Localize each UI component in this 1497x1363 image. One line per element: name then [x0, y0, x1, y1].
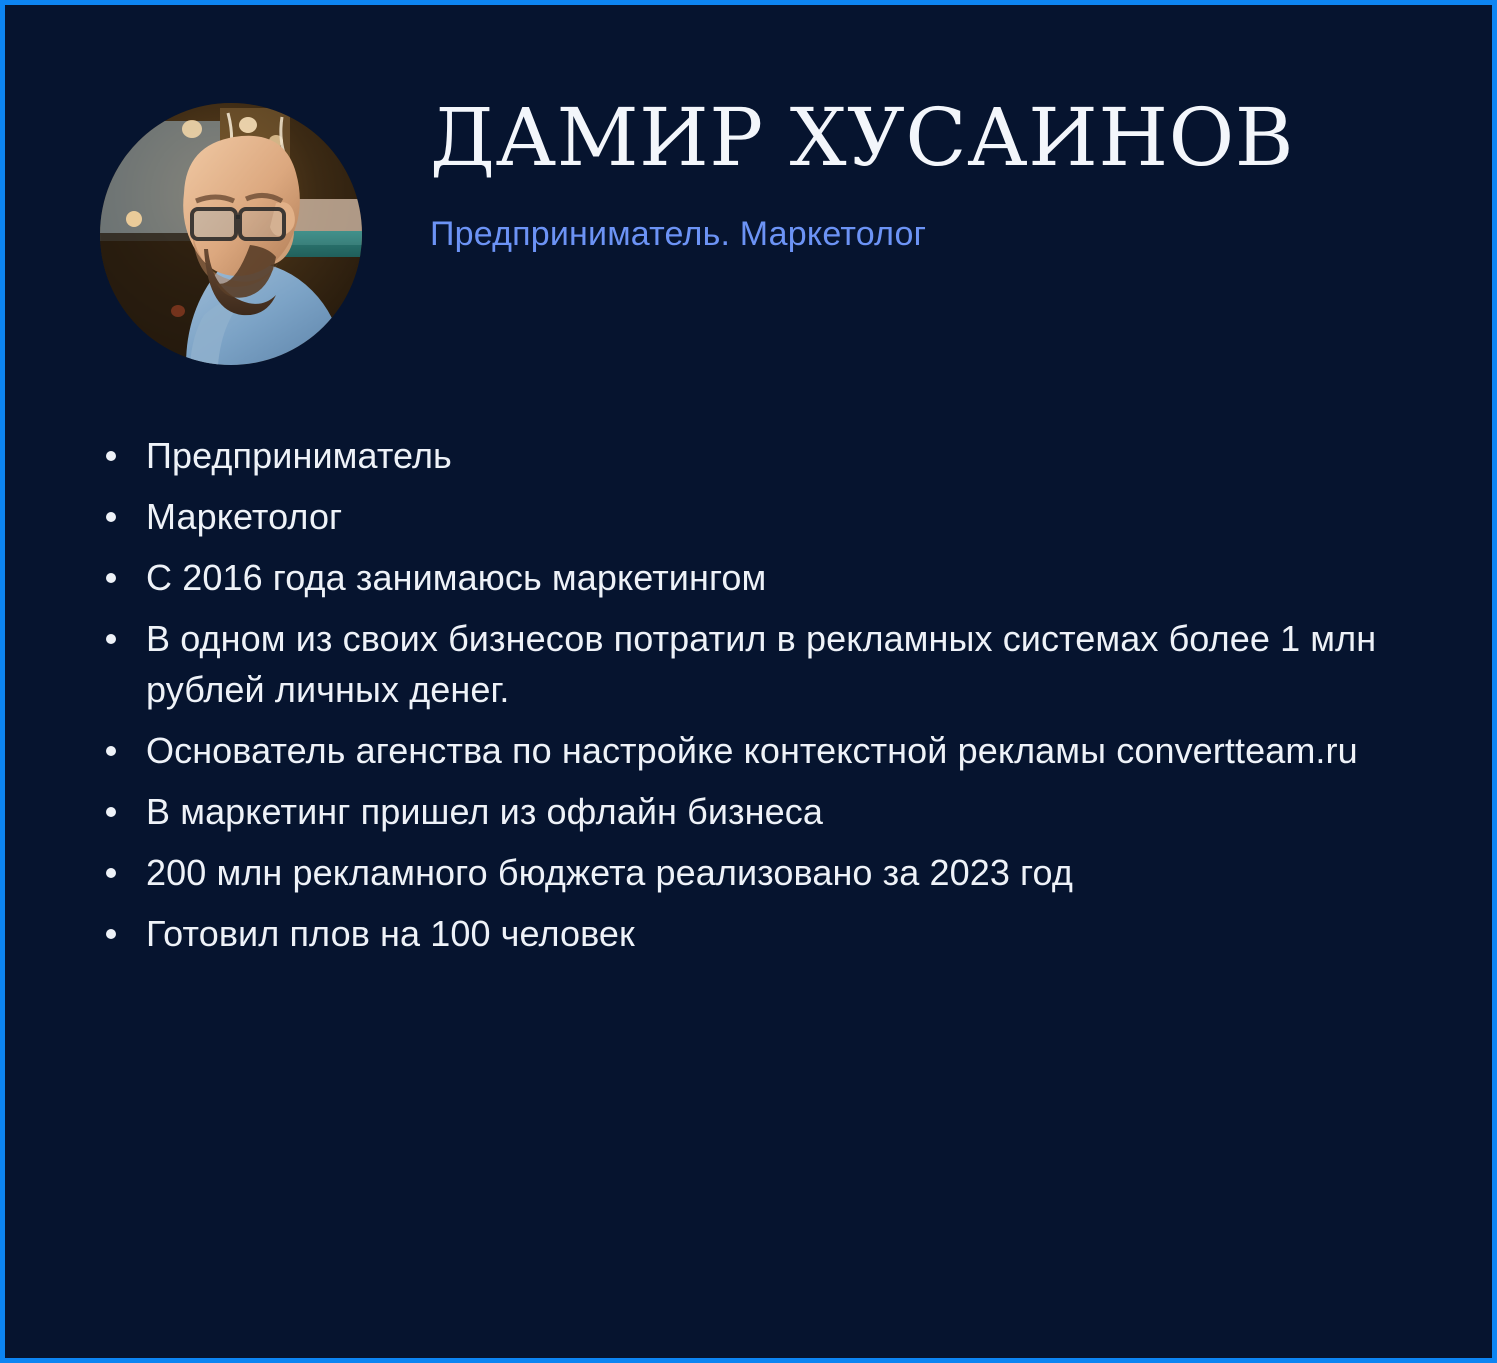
avatar-photo [100, 103, 362, 365]
list-item: В одном из своих бизнесов потратил в рек… [100, 613, 1390, 715]
list-item: Маркетолог [100, 491, 1390, 542]
bullet-dot-icon [106, 512, 116, 522]
bullet-dot-icon [106, 868, 116, 878]
list-item-text: В маркетинг пришел из офлайн бизнеса [146, 791, 823, 832]
bullet-dot-icon [106, 451, 116, 461]
list-item: Основатель агенства по настройке контекс… [100, 725, 1390, 776]
list-item-text: Готовил плов на 100 человек [146, 913, 635, 954]
list-item-text: В одном из своих бизнесов потратил в рек… [146, 618, 1376, 710]
list-item-text: Предприниматель [146, 435, 452, 476]
name-and-role: ДАМИР ХУСАИНОВ Предприниматель. Маркетол… [430, 98, 1440, 255]
bullet-dot-icon [106, 807, 116, 817]
list-item: В маркетинг пришел из офлайн бизнеса [100, 786, 1390, 837]
list-item-text: Маркетолог [146, 496, 342, 537]
list-item: 200 млн рекламного бюджета реализовано з… [100, 847, 1390, 898]
bio-bullet-list: Предприниматель Маркетолог С 2016 года з… [100, 430, 1390, 969]
bullet-dot-icon [106, 634, 116, 644]
page-title: ДАМИР ХУСАИНОВ [430, 98, 1440, 178]
page-subtitle: Предприниматель. Маркетолог [430, 178, 1440, 255]
bullet-dot-icon [106, 573, 116, 583]
list-item-text: 200 млн рекламного бюджета реализовано з… [146, 852, 1073, 893]
list-item-text: Основатель агенства по настройке контекс… [146, 730, 1358, 771]
list-item: С 2016 года занимаюсь маркетингом [100, 552, 1390, 603]
list-item: Готовил плов на 100 человек [100, 908, 1390, 959]
bullet-dot-icon [106, 746, 116, 756]
profile-slide: ДАМИР ХУСАИНОВ Предприниматель. Маркетол… [0, 0, 1497, 1363]
avatar [100, 103, 362, 365]
bullet-dot-icon [106, 929, 116, 939]
profile-header: ДАМИР ХУСАИНОВ Предприниматель. Маркетол… [100, 98, 1440, 373]
list-item: Предприниматель [100, 430, 1390, 481]
list-item-text: С 2016 года занимаюсь маркетингом [146, 557, 766, 598]
